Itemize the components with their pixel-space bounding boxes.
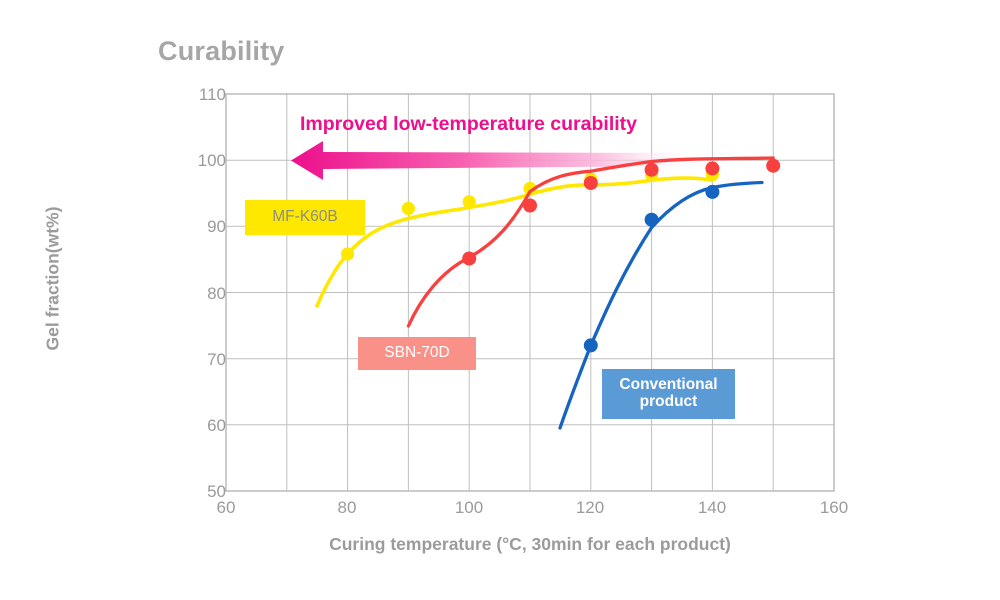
- series-label-sbn-70d: SBN-70D: [358, 337, 476, 370]
- y-tick-70: 70: [180, 350, 226, 370]
- x-tick-100: 100: [439, 498, 499, 518]
- x-axis-title: Curing temperature (°C, 30min for each p…: [226, 534, 834, 555]
- y-tick-80: 80: [180, 284, 226, 304]
- annotation-improved-curability: Improved low-temperature curability: [300, 113, 637, 136]
- y-tick-110: 110: [180, 85, 226, 105]
- y-axis-title: Gel fraction(wt%): [43, 174, 64, 384]
- chart-canvas: Curability: [0, 0, 1000, 600]
- x-tick-80: 80: [317, 498, 377, 518]
- y-tick-90: 90: [180, 217, 226, 237]
- x-tick-140: 140: [682, 498, 742, 518]
- x-tick-120: 120: [560, 498, 620, 518]
- series-label-conventional-product: Conventional product: [602, 369, 735, 419]
- x-tick-60: 60: [196, 498, 256, 518]
- y-tick-100: 100: [180, 151, 226, 171]
- x-tick-160: 160: [804, 498, 864, 518]
- y-tick-60: 60: [180, 416, 226, 436]
- series-label-mf-k60b: MF-K60B: [245, 200, 365, 235]
